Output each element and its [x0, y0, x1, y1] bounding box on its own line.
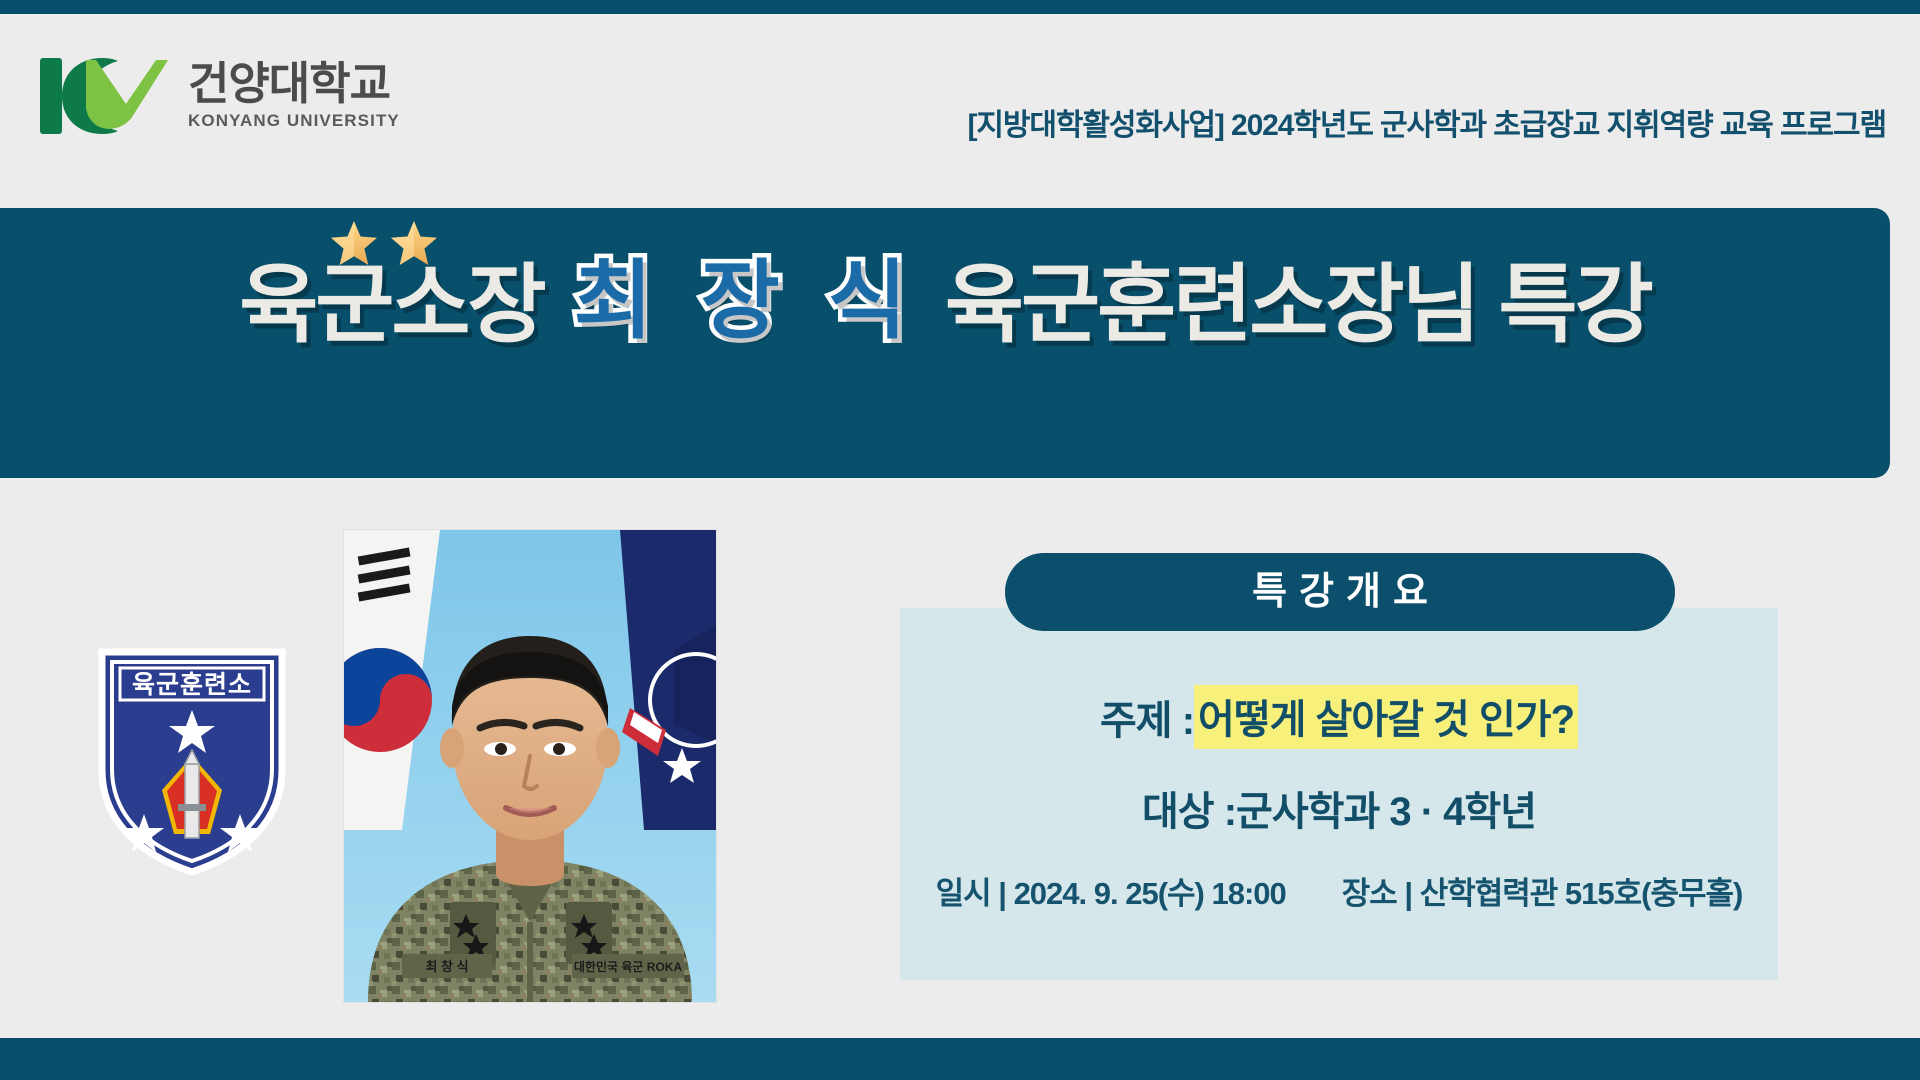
- poster-root: 건양대학교 KONYANG UNIVERSITY [지방대학활성화사업] 202…: [0, 0, 1920, 1080]
- info-row-target: 대상 : 군사학과 3 · 4학년: [900, 779, 1778, 837]
- poster-header: 건양대학교 KONYANG UNIVERSITY [지방대학활성화사업] 202…: [0, 14, 1920, 208]
- title-line: 육군소장 최 장 식 육군훈련소장님 특강: [0, 256, 1890, 354]
- lecture-meta-row: 일시 | 2024. 9. 25(수) 18:00 장소 | 산학협력관 515…: [900, 868, 1778, 913]
- university-name-korean: 건양대학교: [188, 61, 400, 107]
- bottom-accent-bar: [0, 1038, 1920, 1080]
- university-name-english: KONYANG UNIVERSITY: [188, 107, 400, 134]
- title-band: 육군소장 최 장 식 육군훈련소장님 특강: [0, 208, 1890, 478]
- subject-value: 어떻게 살아갈 것 인가?: [1194, 685, 1578, 749]
- lecture-datetime: 일시 | 2024. 9. 25(수) 18:00: [936, 868, 1286, 913]
- university-logo: 건양대학교 KONYANG UNIVERSITY: [38, 52, 400, 140]
- university-logo-wordmark: 건양대학교 KONYANG UNIVERSITY: [188, 57, 400, 134]
- svg-text:육군훈련소: 육군훈련소: [132, 671, 252, 699]
- target-value: 군사학과 3 · 4학년: [1236, 779, 1536, 837]
- svg-text:대한민국 육군 ROKA: 대한민국 육군 ROKA: [574, 959, 683, 974]
- title-role-suffix: 육군훈련소장님 특강: [929, 262, 1651, 348]
- title-speaker-name: 최 장 식: [558, 256, 929, 354]
- info-row-subject: 주제 : 어떻게 살아갈 것 인가?: [900, 685, 1778, 749]
- target-label: 대상 :: [1142, 779, 1236, 837]
- title-rank-prefix: 육군소장: [239, 262, 557, 348]
- lecture-location: 장소 | 산학협력관 515호(충무홀): [1342, 868, 1743, 913]
- lecture-info-rows: 주제 : 어떻게 살아갈 것 인가? 대상 : 군사학과 3 · 4학년: [900, 663, 1778, 837]
- top-accent-bar: [0, 0, 1920, 14]
- lecture-overview-badge: 특강개요: [1005, 553, 1675, 631]
- poster-body: 육군훈련소: [0, 478, 1920, 1038]
- konyang-ky-logo-icon: [38, 52, 170, 140]
- lecture-overview-badge-label: 특강개요: [1240, 573, 1440, 611]
- svg-text:최 창 식: 최 창 식: [425, 959, 468, 974]
- program-tagline: [지방대학활성화사업] 2024학년도 군사학과 초급장교 지휘역량 교육 프로…: [967, 100, 1886, 144]
- speaker-portrait: 최 창 식 대한민국 육군 ROKA: [344, 530, 716, 1002]
- army-training-center-emblem-icon: 육군훈련소: [88, 638, 296, 878]
- subject-label: 주제 :: [1100, 688, 1194, 746]
